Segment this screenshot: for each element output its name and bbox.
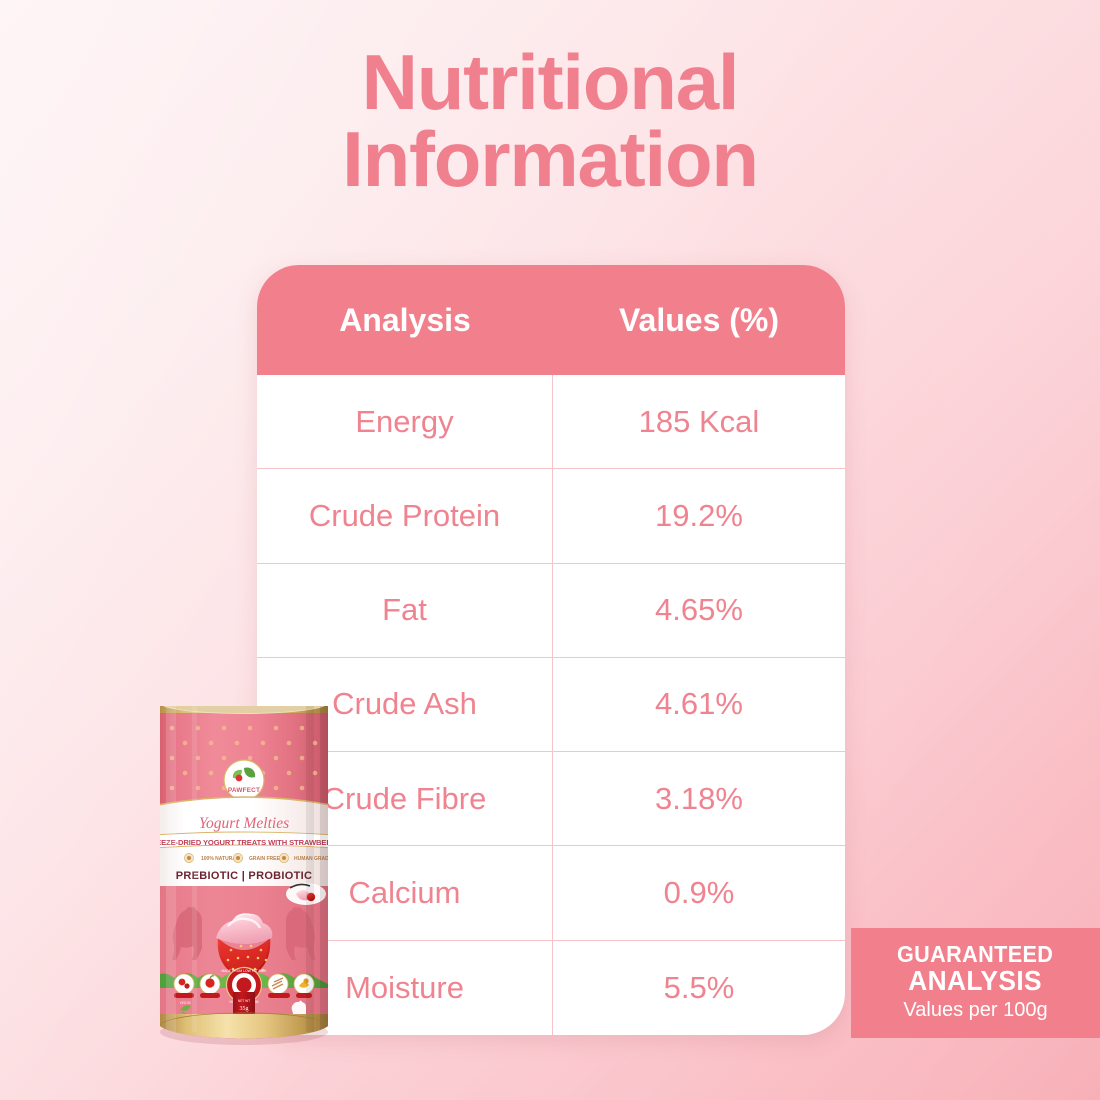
page-title-line1: Nutritional (362, 38, 739, 126)
table-row: Energy 185 Kcal (257, 375, 845, 469)
svg-text:FREEZE-DRIED YOGURT TREATS WIT: FREEZE-DRIED YOGURT TREATS WITH STRAWBER… (156, 838, 332, 847)
cell-value: 19.2% (553, 469, 845, 562)
cell-value: 185 Kcal (553, 375, 845, 468)
page-title: Nutritional Information (0, 44, 1100, 198)
table-row: Crude Ash 4.61% (257, 658, 845, 752)
cell-analysis: Crude Protein (257, 469, 553, 562)
column-header-analysis: Analysis (257, 302, 553, 339)
cell-value: 4.61% (553, 658, 845, 751)
page-title-line2: Information (0, 121, 1100, 198)
cell-analysis: Fat (257, 564, 553, 657)
table-header-row: Analysis Values (%) (257, 265, 845, 375)
cell-analysis: Energy (257, 375, 553, 468)
table-row: Moisture 5.5% (257, 941, 845, 1035)
svg-text:NET WT: NET WT (238, 999, 250, 1003)
table-row: Crude Fibre 3.18% (257, 752, 845, 846)
nutrition-table-card: Analysis Values (%) Energy 185 Kcal Crud… (257, 265, 845, 1035)
svg-text:PAWFECT: PAWFECT (228, 787, 260, 794)
svg-text:GRAIN FREE: GRAIN FREE (249, 856, 281, 862)
badge-line-values-per: Values per 100g (903, 997, 1047, 1023)
cell-value: 0.9% (553, 846, 845, 939)
table-row: Crude Protein 19.2% (257, 469, 845, 563)
cell-value: 4.65% (553, 564, 845, 657)
cell-value: 3.18% (553, 752, 845, 845)
guaranteed-analysis-badge: GUARANTEED ANALYSIS Values per 100g (851, 928, 1100, 1038)
table-row: Calcium 0.9% (257, 846, 845, 940)
badge-line-analysis: ANALYSIS (909, 966, 1043, 995)
table-row: Fat 4.65% (257, 564, 845, 658)
svg-text:35g: 35g (240, 1006, 249, 1012)
column-header-values: Values (%) (553, 302, 845, 339)
cell-value: 5.5% (553, 941, 845, 1035)
svg-text:MADE FROM LOW FAT MILK: MADE FROM LOW FAT MILK (221, 969, 267, 973)
svg-text:VEG IN: VEG IN (180, 1001, 192, 1005)
svg-text:Yogurt Melties: Yogurt Melties (199, 815, 289, 832)
table-body: Energy 185 Kcal Crude Protein 19.2% Fat … (257, 375, 845, 1035)
badge-line-guaranteed: GUARANTEED (897, 943, 1053, 966)
product-can-image: PAWFECT Yogurt Melties FREEZE-DRIED YOGU… (156, 688, 332, 1046)
